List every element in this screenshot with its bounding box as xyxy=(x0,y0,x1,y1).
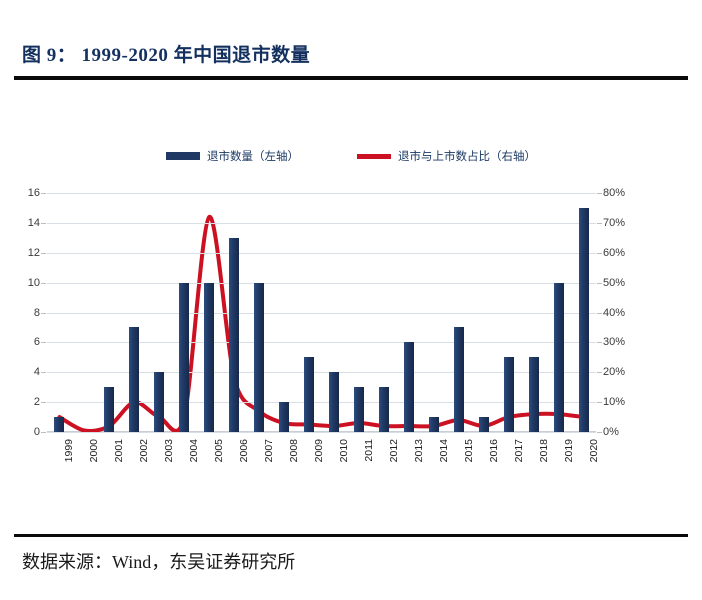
bar xyxy=(554,283,564,432)
y2-axis-tick-mark xyxy=(597,372,602,373)
legend-item-bar: 退市数量（左轴） xyxy=(166,148,299,164)
x-axis-tick-label: 2002 xyxy=(138,439,150,462)
y2-axis-tick-label: 10% xyxy=(603,396,625,408)
bar xyxy=(504,357,514,432)
y-axis-tick-mark xyxy=(41,432,46,433)
y2-axis-tick-mark xyxy=(597,253,602,254)
x-axis-tick-label: 2004 xyxy=(188,439,200,462)
y-axis-tick-label: 12 xyxy=(28,247,40,259)
bar xyxy=(354,387,364,432)
y-axis-tick-label: 2 xyxy=(34,396,40,408)
y-axis-tick-mark xyxy=(41,372,46,373)
legend-line-label: 退市与上市数占比（右轴） xyxy=(398,148,536,164)
y-axis-tick-mark xyxy=(41,193,46,194)
x-axis-tick-label: 1999 xyxy=(63,439,75,462)
x-axis-tick-label: 2009 xyxy=(313,439,325,462)
y-axis-tick-mark xyxy=(41,253,46,254)
y2-axis-tick-label: 40% xyxy=(603,307,625,319)
y2-axis-tick-label: 50% xyxy=(603,277,625,289)
gridline xyxy=(47,432,596,433)
x-axis-tick-label: 2006 xyxy=(238,439,250,462)
y-axis-tick-mark xyxy=(41,223,46,224)
y2-axis-tick-label: 70% xyxy=(603,217,625,229)
bar xyxy=(454,327,464,432)
y-axis-tick-label: 0 xyxy=(34,426,40,438)
x-axis-tick-label: 2001 xyxy=(113,439,125,462)
bar xyxy=(229,238,239,432)
x-axis-tick-label: 2005 xyxy=(213,439,225,462)
y-axis-tick-mark xyxy=(41,313,46,314)
y-axis-tick-label: 4 xyxy=(34,366,40,378)
x-axis-tick-label: 2015 xyxy=(463,439,475,462)
y2-axis-tick-mark xyxy=(597,193,602,194)
x-axis-tick-label: 2011 xyxy=(363,439,375,462)
footer-divider xyxy=(14,534,688,537)
y2-axis-tick-mark xyxy=(597,313,602,314)
y2-axis-tick-label: 60% xyxy=(603,247,625,259)
x-axis-tick-label: 2019 xyxy=(563,439,575,462)
y2-axis-tick-mark xyxy=(597,283,602,284)
plot-area: 00%210%420%630%840%1050%1260%1470%1680%1… xyxy=(47,193,596,432)
bar xyxy=(254,283,264,432)
y-axis-tick-mark xyxy=(41,402,46,403)
x-axis-tick-label: 2017 xyxy=(513,439,525,462)
x-axis-tick-label: 2003 xyxy=(163,439,175,462)
legend-line-swatch-icon xyxy=(357,154,391,159)
bar xyxy=(129,327,139,432)
bar xyxy=(279,402,289,432)
legend-bar-label: 退市数量（左轴） xyxy=(207,148,299,164)
y-axis-tick-mark xyxy=(41,283,46,284)
legend-bar-swatch-icon xyxy=(166,152,200,160)
y-axis-tick-label: 8 xyxy=(34,307,40,319)
chart-legend: 退市数量（左轴） 退市与上市数占比（右轴） xyxy=(0,148,702,164)
gridline xyxy=(47,313,596,314)
bar xyxy=(104,387,114,432)
bar xyxy=(54,417,64,432)
bar xyxy=(529,357,539,432)
y2-axis-tick-mark xyxy=(597,342,602,343)
bar xyxy=(429,417,439,432)
source-note: 数据来源：Wind，东吴证券研究所 xyxy=(22,548,295,574)
y-axis-tick-mark xyxy=(41,342,46,343)
legend-item-line: 退市与上市数占比（右轴） xyxy=(357,148,536,164)
bar xyxy=(304,357,314,432)
gridline xyxy=(47,193,596,194)
y2-axis-tick-label: 20% xyxy=(603,366,625,378)
page-title: 图 9： 1999-2020 年中国退市数量 xyxy=(22,40,310,67)
bar xyxy=(329,372,339,432)
x-axis-tick-label: 2016 xyxy=(488,439,500,462)
y2-axis-tick-label: 80% xyxy=(603,187,625,199)
y-axis-tick-label: 6 xyxy=(34,336,40,348)
y2-axis-tick-label: 0% xyxy=(603,426,619,438)
y-axis-tick-label: 16 xyxy=(28,187,40,199)
x-axis-tick-label: 2007 xyxy=(263,439,275,462)
bar xyxy=(379,387,389,432)
gridline xyxy=(47,223,596,224)
x-axis-tick-label: 2008 xyxy=(288,439,300,462)
x-axis-tick-label: 2010 xyxy=(338,439,350,462)
x-axis-tick-label: 2020 xyxy=(588,439,600,462)
gridline xyxy=(47,283,596,284)
bar xyxy=(479,417,489,432)
y2-axis-tick-mark xyxy=(597,223,602,224)
bar xyxy=(579,208,589,432)
bar xyxy=(179,283,189,432)
chart-container: 退市数量（左轴） 退市与上市数占比（右轴） 00%210%420%630%840… xyxy=(0,96,702,496)
x-axis-tick-label: 2014 xyxy=(438,439,450,462)
x-axis-tick-label: 2013 xyxy=(413,439,425,462)
title-divider xyxy=(14,76,688,80)
y2-axis-tick-label: 30% xyxy=(603,336,625,348)
y2-axis-tick-mark xyxy=(597,402,602,403)
x-axis-tick-label: 2018 xyxy=(538,439,550,462)
y-axis-tick-label: 10 xyxy=(28,277,40,289)
y2-axis-tick-mark xyxy=(597,432,602,433)
y-axis-tick-label: 14 xyxy=(28,217,40,229)
bar xyxy=(404,342,414,432)
x-axis-tick-label: 2012 xyxy=(388,439,400,462)
gridline xyxy=(47,253,596,254)
x-axis-tick-label: 2000 xyxy=(88,439,100,462)
bar xyxy=(204,283,214,432)
bar xyxy=(154,372,164,432)
